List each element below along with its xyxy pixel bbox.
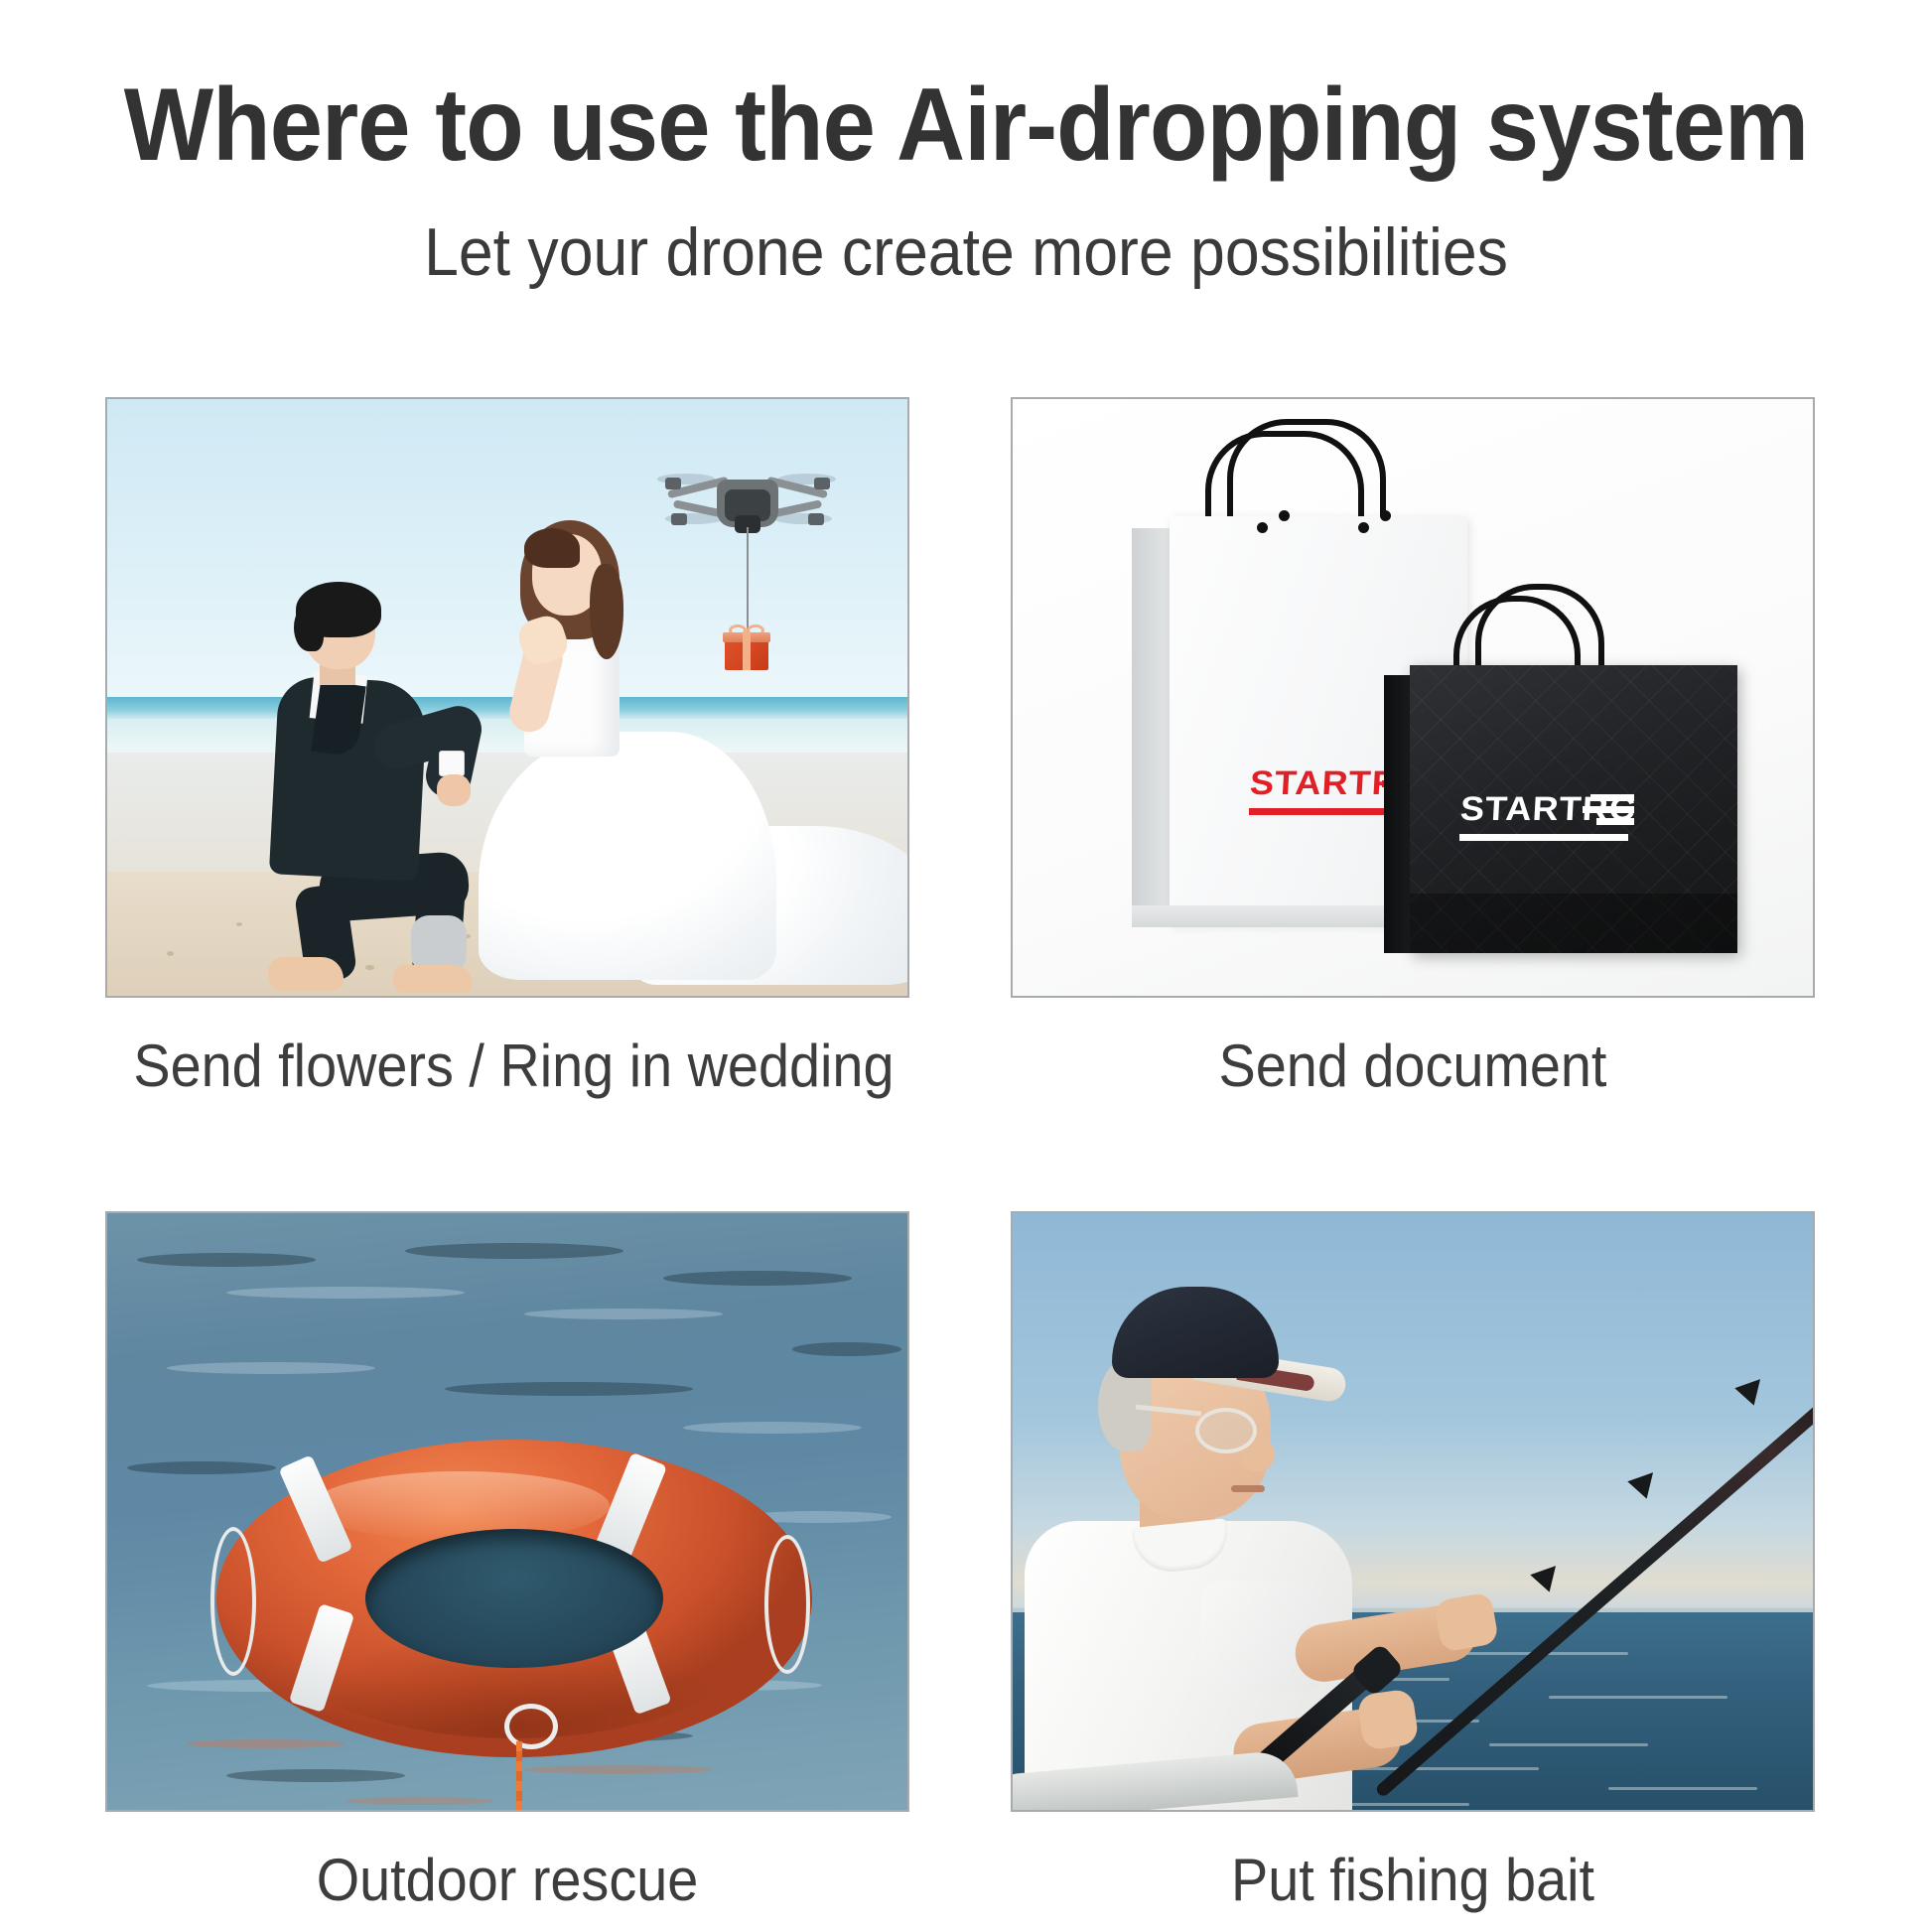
use-case-card-rescue[interactable]: Outdoor rescue [105, 1211, 909, 1914]
bag-handle-icon [1227, 419, 1386, 526]
sunglasses-icon [1195, 1408, 1257, 1453]
page-subtitle: Let your drone create more possibilities [77, 177, 1855, 286]
ring-box [439, 751, 465, 776]
rope-knot [504, 1704, 558, 1749]
card-caption-wedding: Send flowers / Ring in wedding [133, 1032, 881, 1100]
groom-figure [256, 588, 484, 975]
photo-frame-document: STARTRC [1011, 397, 1815, 998]
black-shopping-bag: STARTRC [1410, 665, 1737, 953]
fisherman-image [1013, 1213, 1813, 1810]
lifebuoy-image [107, 1213, 907, 1810]
startrc-logo-white: STARTRC [1465, 792, 1634, 844]
tow-rope [516, 1741, 522, 1812]
gift-box-icon [725, 628, 768, 670]
card-caption-fishing: Put fishing bait [1038, 1846, 1786, 1914]
header: Where to use the Air-dropping system Let… [0, 0, 1932, 286]
photo-frame-fishing [1011, 1211, 1815, 1812]
drone-icon [663, 454, 832, 543]
product-infographic: Where to use the Air-dropping system Let… [0, 0, 1932, 1932]
photo-frame-wedding [105, 397, 909, 998]
cap-icon [1112, 1287, 1279, 1378]
photo-frame-rescue [105, 1211, 909, 1812]
fishing-rod-icon [1340, 1330, 1815, 1812]
shopping-bags-image: STARTRC [1013, 399, 1813, 996]
page-title: Where to use the Air-dropping system [77, 0, 1855, 177]
card-caption-rescue: Outdoor rescue [133, 1846, 881, 1914]
airdrop-cord [747, 527, 749, 632]
beach-scene-image [107, 399, 907, 996]
use-case-card-document[interactable]: STARTRC [1011, 397, 1815, 1100]
bride-figure [504, 528, 909, 985]
card-caption-document: Send document [1038, 1032, 1786, 1100]
use-case-card-wedding[interactable]: Send flowers / Ring in wedding [105, 397, 909, 1100]
use-case-card-fishing[interactable]: Put fishing bait [1011, 1211, 1815, 1914]
bag-handle-icon [1475, 584, 1604, 673]
